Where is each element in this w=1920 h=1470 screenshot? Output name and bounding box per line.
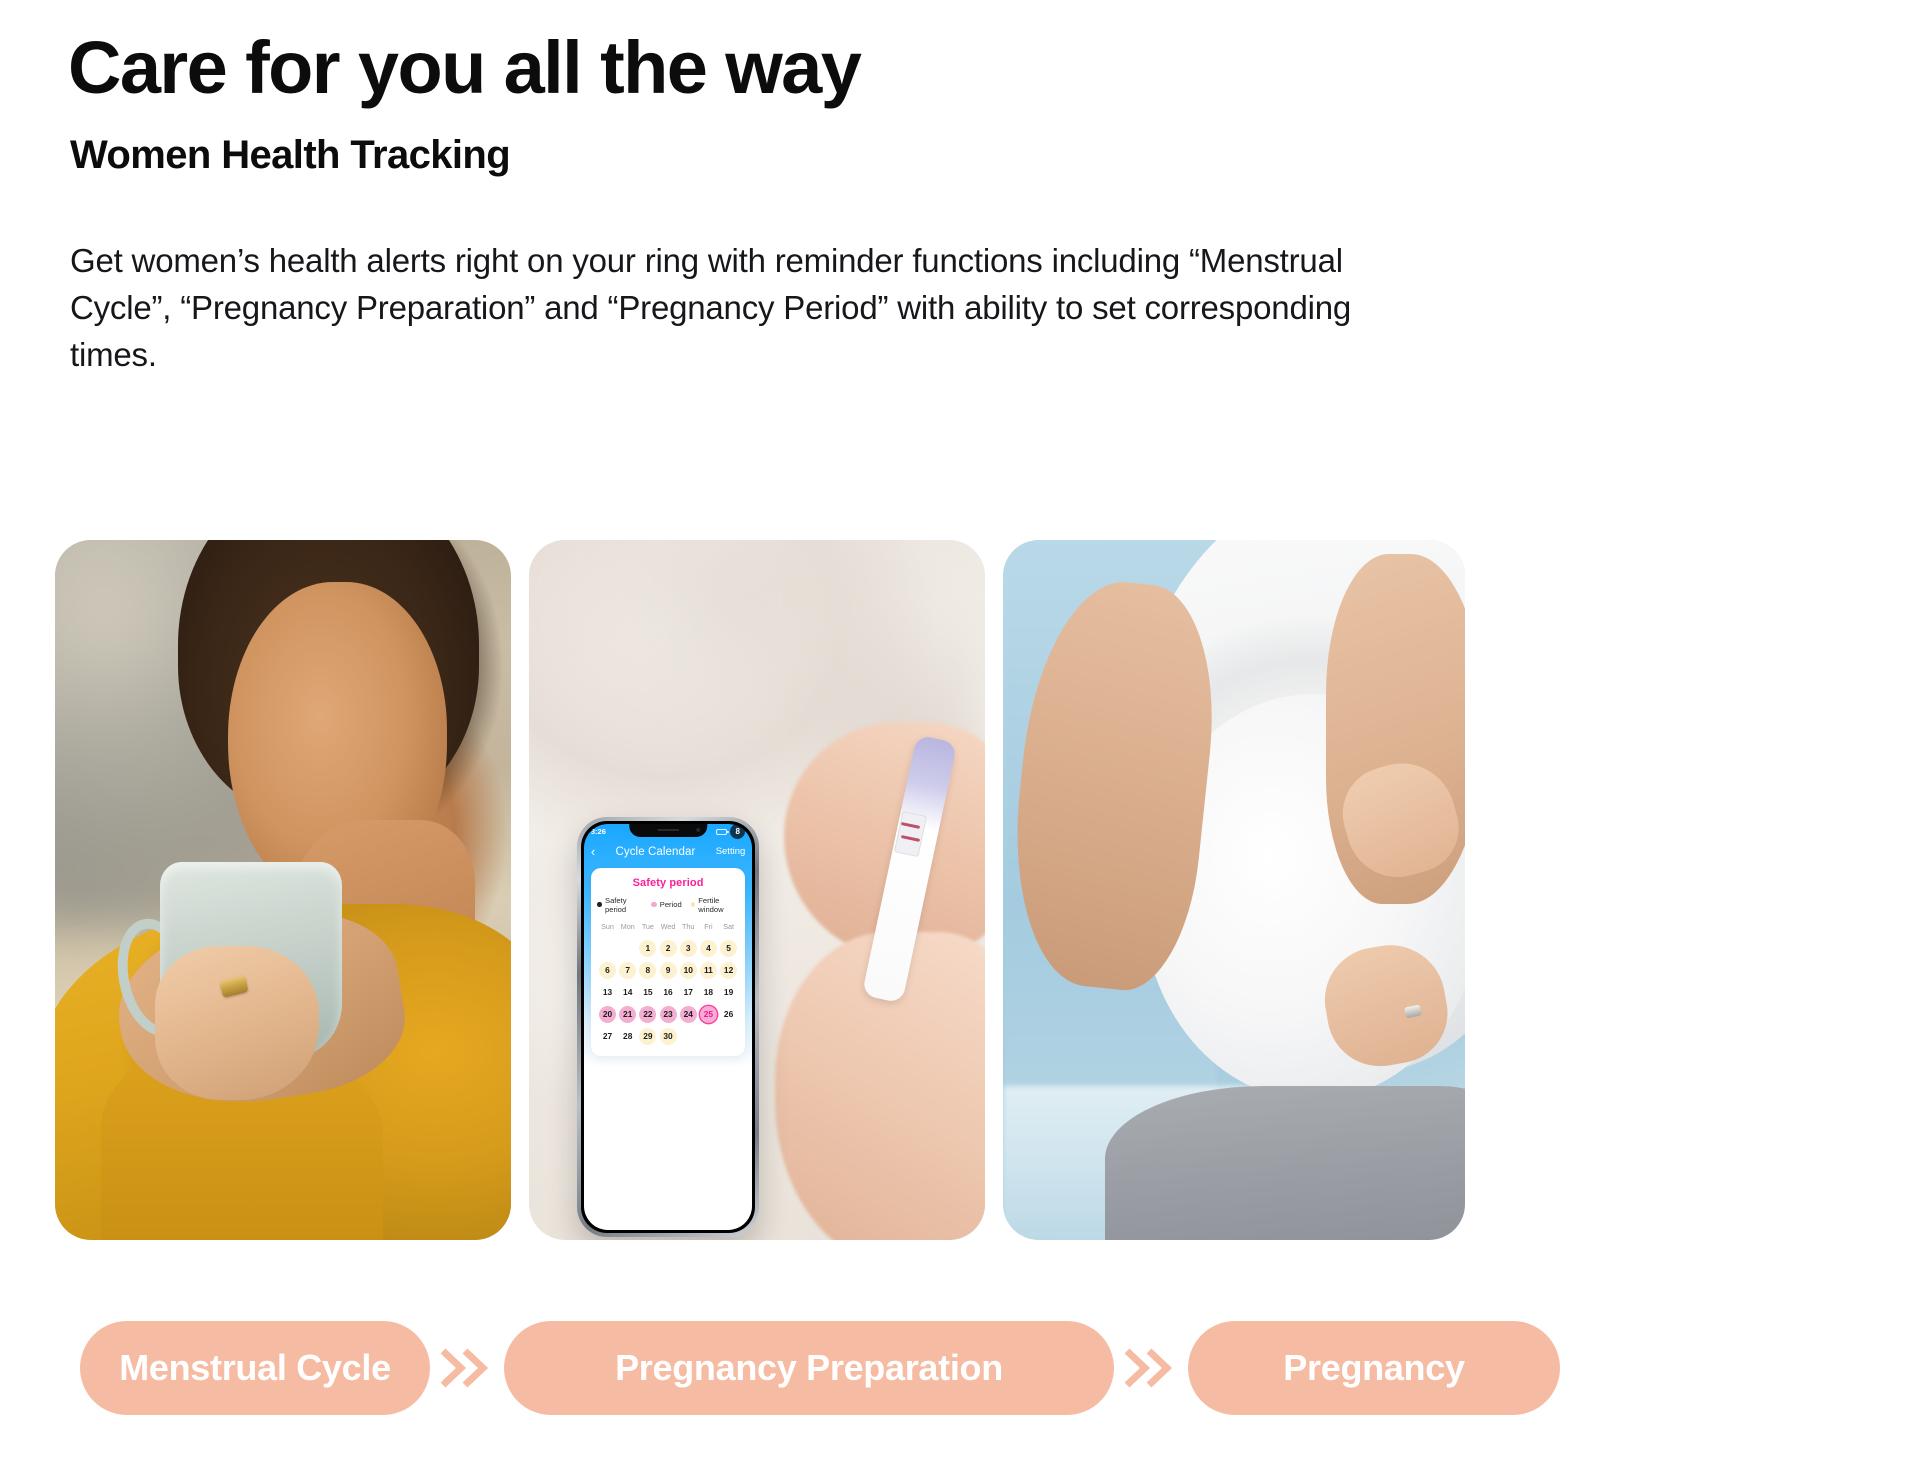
calendar-day-cell[interactable]: 25 [698,1006,718,1023]
photo-woman-with-mug [55,540,511,1240]
page-root: Care for you all the way Women Health Tr… [0,0,1920,1470]
calendar-day-cell[interactable]: 27 [597,1028,617,1045]
calendar-day-cell[interactable]: 11 [698,962,718,979]
phone-screen: 3:26 8 ‹ Cycle Calendar Setting [584,824,752,1230]
page-title: Care for you all the way [68,28,860,108]
app-title: Cycle Calendar [615,846,695,858]
calendar-day-header: Fri [698,922,718,935]
flow-step-menstrual-cycle[interactable]: Menstrual Cycle [80,1321,430,1415]
calendar-day-cell[interactable]: 20 [597,1006,617,1023]
calendar-day-header: Mon [618,922,638,935]
calendar-legend: Safety period Period Fertile window [597,896,738,914]
calendar-day-header: Wed [658,922,678,935]
photo-pregnant-woman [1003,540,1465,1240]
calendar-day-number: 26 [720,1006,737,1023]
legend-label: Period [660,900,682,909]
status-time: 3:26 [591,827,606,836]
flow-step-label: Pregnancy Preparation [615,1347,1003,1389]
calendar-day-number: 4 [700,940,717,957]
calendar-day-cell[interactable]: 17 [678,984,698,1001]
flow-step-pregnancy[interactable]: Pregnancy [1188,1321,1560,1415]
flow-step-label: Menstrual Cycle [119,1347,391,1389]
calendar-day-cell[interactable]: 22 [638,1006,658,1023]
battery-icon [716,829,727,835]
flow-step-label: Pregnancy [1283,1347,1464,1389]
calendar-grid: SunMonTueWedThuFriSat1234567891011121314… [597,922,738,1045]
calendar-day-cell[interactable]: 2 [658,940,678,957]
calendar-day-cell[interactable]: 18 [698,984,718,1001]
pregnancy-preparation-photo: 3:26 8 ‹ Cycle Calendar Setting [529,540,985,1240]
calendar-day-cell[interactable]: 7 [618,962,638,979]
calendar-day-cell[interactable]: 14 [618,984,638,1001]
calendar-day-blank [597,940,617,957]
calendar-day-number: 8 [639,962,656,979]
calendar-day-cell[interactable]: 13 [597,984,617,1001]
calendar-day-cell[interactable]: 12 [719,962,739,979]
calendar-day-number: 24 [680,1006,697,1023]
calendar-day-cell[interactable]: 24 [678,1006,698,1023]
calendar-day-header: Sun [597,922,617,935]
legend-item-fertile-window: Fertile window [691,896,739,914]
calendar-day-cell[interactable]: 15 [638,984,658,1001]
calendar-day-number: 18 [700,984,717,1001]
calendar-day-number: 5 [720,940,737,957]
menstrual-cycle-photo [55,540,511,1240]
calendar-day-cell[interactable]: 3 [678,940,698,957]
chevron-right-icon-1 [430,1347,504,1389]
calendar-day-number: 23 [660,1006,677,1023]
photo-grey-leggings [1105,1086,1465,1240]
calendar-day-cell[interactable]: 19 [719,984,739,1001]
chevron-right-icon-2 [1114,1347,1188,1389]
cycle-calendar-card: Safety period Safety period Period [591,868,744,1056]
profile-avatar-icon[interactable]: 8 [730,824,745,839]
safety-period-dot-icon [597,902,602,908]
setting-button[interactable]: Setting [716,846,746,857]
calendar-day-header: Tue [638,922,658,935]
fertile-window-dot-icon [691,902,696,908]
page-description: Get women’s health alerts right on your … [70,238,1370,379]
page-subtitle: Women Health Tracking [70,131,510,179]
calendar-day-number: 6 [599,962,616,979]
calendar-day-cell[interactable]: 8 [638,962,658,979]
photo-hands [155,946,319,1100]
calendar-day-number: 7 [619,962,636,979]
calendar-day-cell[interactable]: 29 [638,1028,658,1045]
calendar-day-number: 28 [619,1028,636,1045]
calendar-day-number: 14 [619,984,636,1001]
status-right-cluster: 8 [716,824,745,839]
calendar-day-cell[interactable]: 5 [719,940,739,957]
calendar-day-number: 9 [660,962,677,979]
calendar-day-number: 20 [599,1006,616,1023]
legend-item-period: Period [651,900,681,909]
calendar-day-number: 19 [720,984,737,1001]
calendar-day-number: 13 [599,984,616,1001]
legend-label: Safety period [605,896,642,914]
calendar-day-header: Thu [678,922,698,935]
calendar-day-cell[interactable]: 26 [719,1006,739,1023]
legend-label: Fertile window [698,896,738,914]
calendar-day-cell[interactable]: 21 [618,1006,638,1023]
calendar-day-cell[interactable]: 16 [658,984,678,1001]
calendar-day-header: Sat [719,922,739,935]
period-dot-icon [651,902,657,908]
calendar-day-number: 11 [700,962,717,979]
earpiece-speaker-icon [657,829,679,832]
journey-flow: Menstrual Cycle Pregnancy Preparation Pr… [80,1320,1850,1416]
calendar-day-number: 15 [639,984,656,1001]
calendar-day-number: 17 [680,984,697,1001]
calendar-day-number: 3 [680,940,697,957]
feature-image-row: 3:26 8 ‹ Cycle Calendar Setting [55,540,1865,1240]
calendar-day-cell[interactable]: 9 [658,962,678,979]
calendar-day-cell[interactable]: 1 [638,940,658,957]
calendar-day-number: 1 [639,940,656,957]
calendar-day-number: 25 [700,1006,717,1023]
front-camera-icon [696,828,700,832]
pregnancy-photo [1003,540,1465,1240]
flow-step-pregnancy-preparation[interactable]: Pregnancy Preparation [504,1321,1114,1415]
calendar-day-blank [618,940,638,957]
calendar-day-number: 22 [639,1006,656,1023]
calendar-day-cell[interactable]: 23 [658,1006,678,1023]
calendar-day-number: 29 [639,1028,656,1045]
phone-notch [629,824,706,837]
phone-bezel: 3:26 8 ‹ Cycle Calendar Setting [581,821,755,1233]
calendar-day-number: 21 [619,1006,636,1023]
calendar-day-cell[interactable]: 6 [597,962,617,979]
back-chevron-icon[interactable]: ‹ [591,845,595,858]
calendar-day-cell[interactable]: 10 [678,962,698,979]
calendar-day-number: 16 [660,984,677,1001]
phone-mockup: 3:26 8 ‹ Cycle Calendar Setting [577,817,759,1237]
legend-item-safety-period: Safety period [597,896,642,914]
calendar-day-number: 27 [599,1028,616,1045]
calendar-day-cell[interactable]: 30 [658,1028,678,1045]
calendar-day-number: 2 [660,940,677,957]
calendar-day-number: 30 [660,1028,677,1045]
calendar-day-cell[interactable]: 4 [698,940,718,957]
photo-pregnancy-test-scene: 3:26 8 ‹ Cycle Calendar Setting [529,540,985,1240]
app-nav-bar: ‹ Cycle Calendar Setting [584,841,752,863]
calendar-status-title: Safety period [597,877,738,889]
calendar-day-number: 12 [720,962,737,979]
calendar-day-number: 10 [680,962,697,979]
calendar-day-cell[interactable]: 28 [618,1028,638,1045]
